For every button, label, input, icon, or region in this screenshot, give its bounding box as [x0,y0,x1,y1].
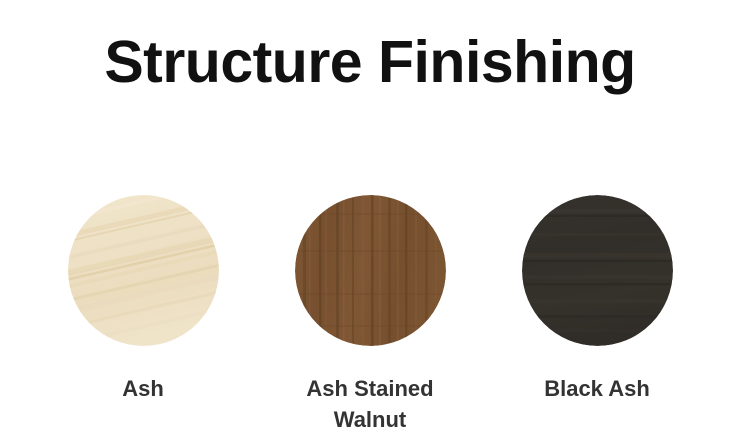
wood-swatch-circle-icon[interactable] [295,195,446,346]
swatch-label: Black Ash [510,373,685,404]
swatch-label: Ash Stained Walnut [283,373,458,435]
swatch-option-ash[interactable]: Ash [68,195,219,404]
finishing-options-page: Structure Finishing [0,0,740,446]
swatch-label: Ash [56,373,231,404]
swatch-option-ash-stained-walnut[interactable]: Ash Stained Walnut [295,195,446,435]
wood-swatch-circle-icon[interactable] [522,195,673,346]
wood-swatch-circle-icon[interactable] [68,195,219,346]
swatch-list: Ash [0,195,740,435]
page-title: Structure Finishing [0,27,740,97]
swatch-option-black-ash[interactable]: Black Ash [522,195,673,404]
